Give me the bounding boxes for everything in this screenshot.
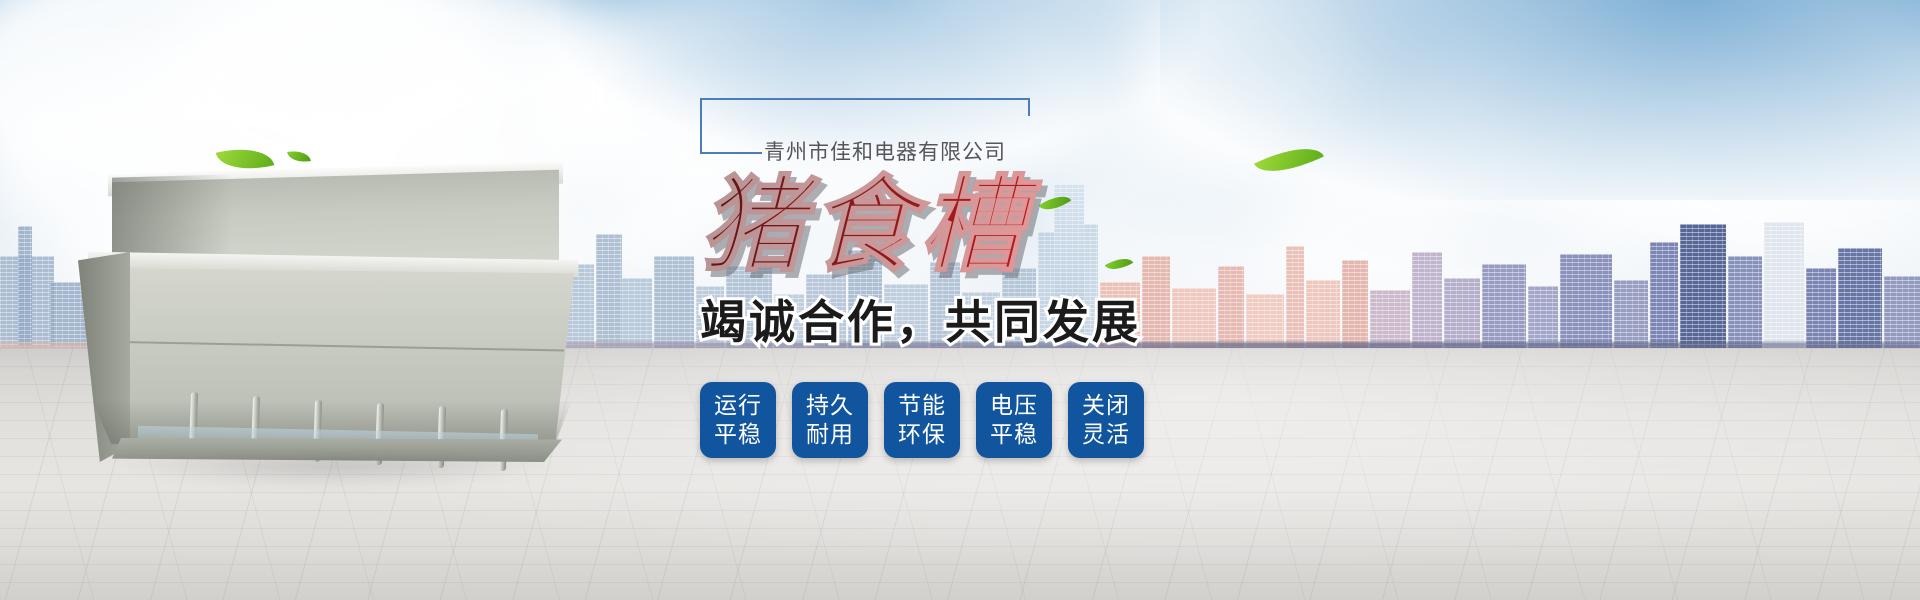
feature-badge[interactable]: 持久 耐用 [792,382,868,458]
badge-line-2: 平稳 [714,420,762,449]
feature-badge[interactable]: 节能 环保 [884,382,960,458]
company-name: 青州市佳和电器有限公司 [764,136,1006,166]
badge-line-2: 耐用 [806,420,854,449]
page-title: 猪食槽 [700,170,1260,280]
badge-line-2: 灵活 [1082,420,1130,449]
badge-line-2: 环保 [898,420,946,449]
badge-line-1: 节能 [898,391,946,420]
product-image-pig-feeder [78,160,578,490]
feature-badge[interactable]: 运行 平稳 [700,382,776,458]
badge-line-1: 运行 [714,391,762,420]
badge-line-2: 平稳 [990,420,1038,449]
badge-line-1: 电压 [990,391,1038,420]
subtitle-slogan: 竭诚合作，共同发展 [700,286,1260,352]
promo-banner: 青州市佳和电器有限公司 猪食槽 竭诚合作，共同发展 运行 平稳 持久 耐用 节能… [0,0,1920,600]
badge-line-1: 持久 [806,391,854,420]
company-name-frame: 青州市佳和电器有限公司 [700,98,1030,154]
feature-badge[interactable]: 关闭 灵活 [1068,382,1144,458]
badge-line-1: 关闭 [1082,391,1130,420]
feature-badge[interactable]: 电压 平稳 [976,382,1052,458]
banner-copy: 青州市佳和电器有限公司 猪食槽 竭诚合作，共同发展 运行 平稳 持久 耐用 节能… [700,98,1260,458]
feature-badge-list: 运行 平稳 持久 耐用 节能 环保 电压 平稳 关闭 灵活 [700,382,1260,458]
